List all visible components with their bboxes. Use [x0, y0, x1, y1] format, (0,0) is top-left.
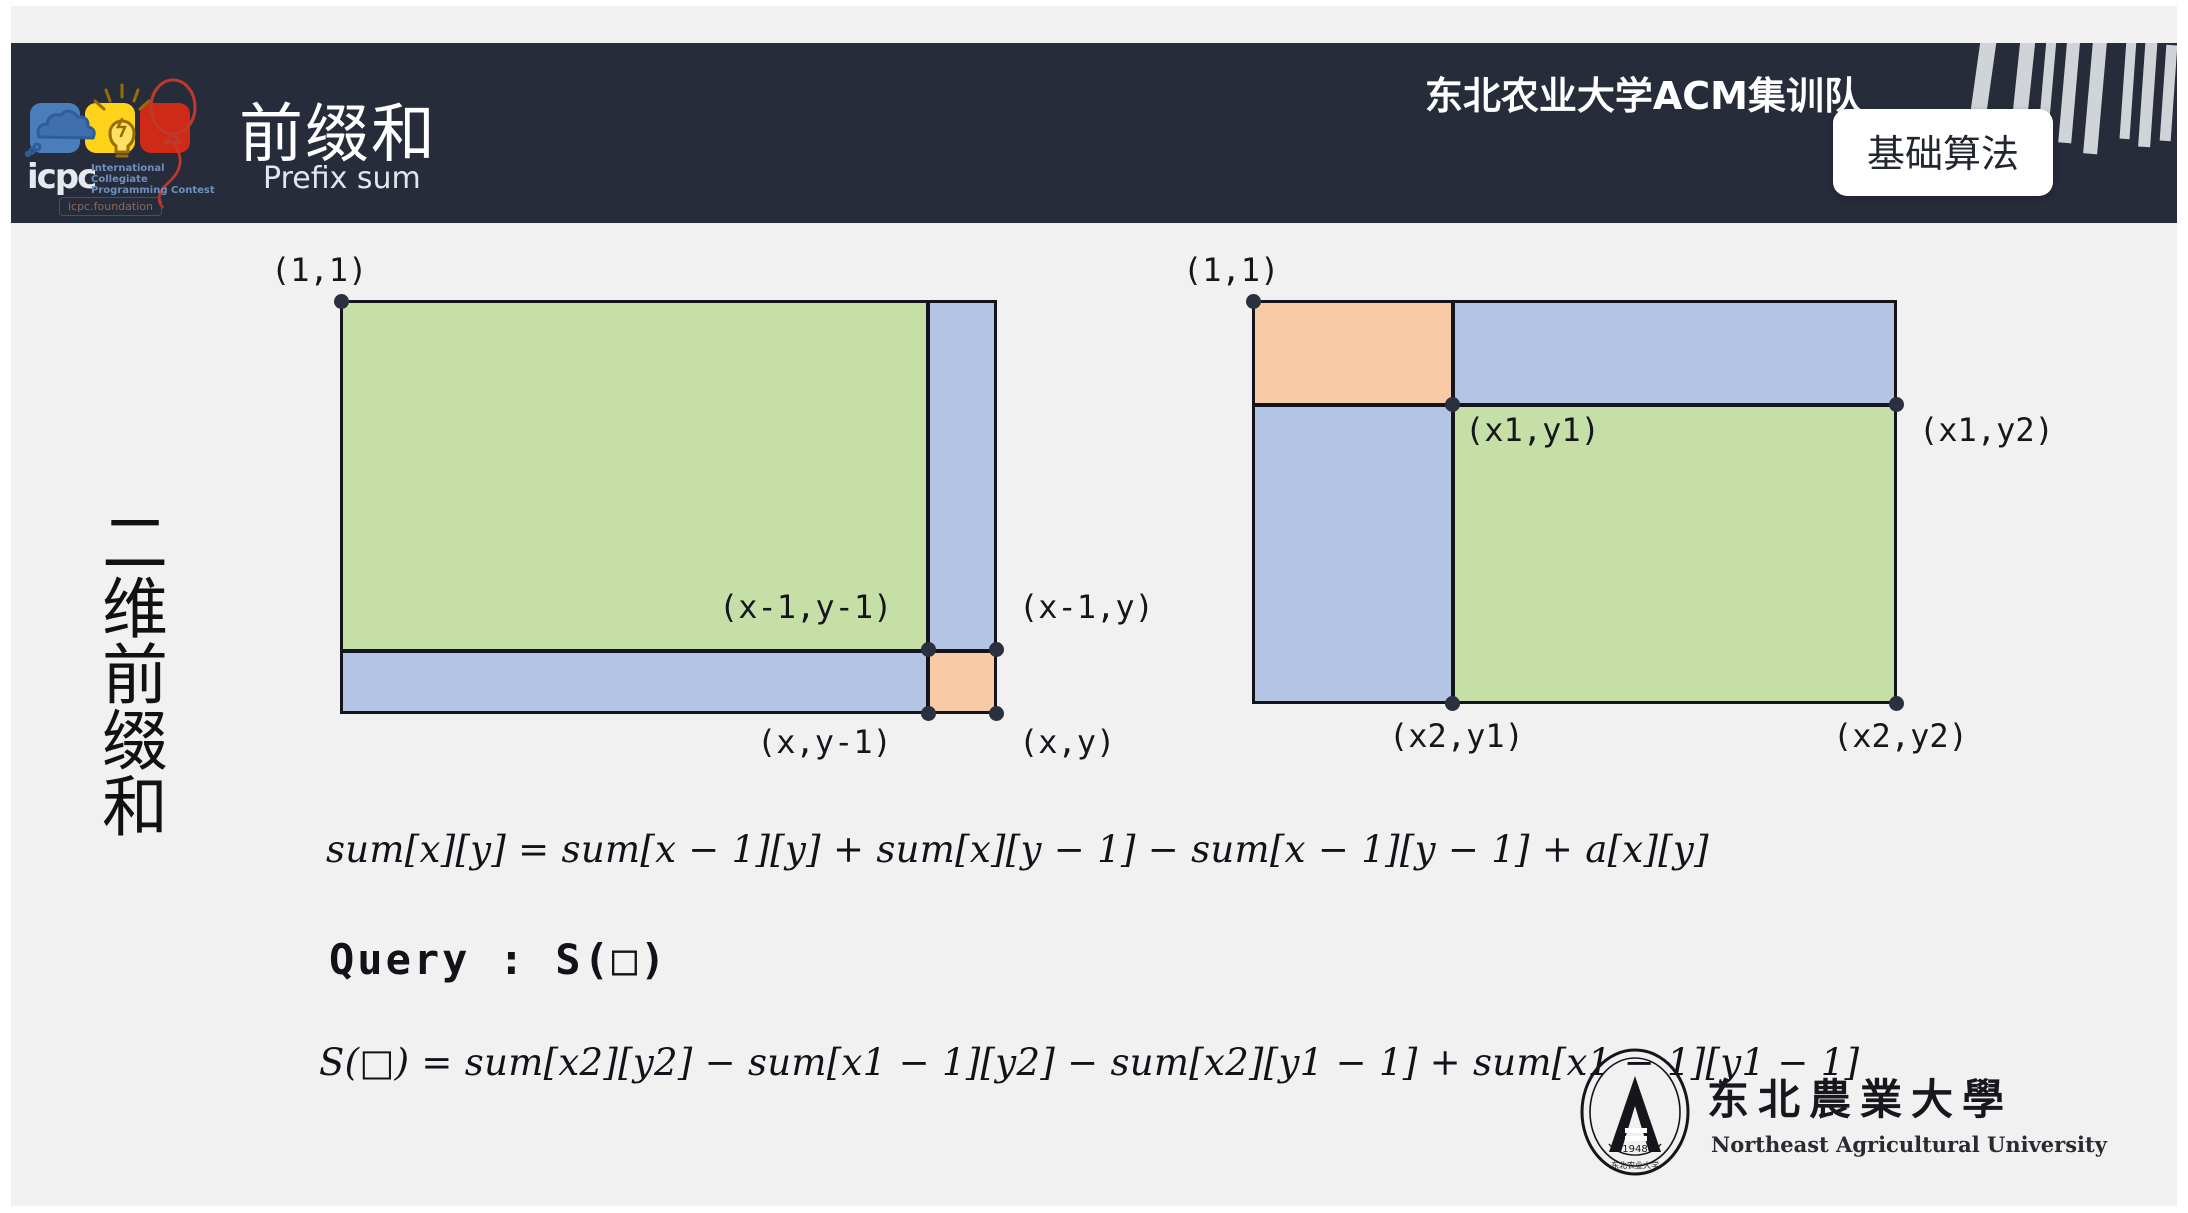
decorative-bar [2138, 43, 2158, 147]
vertex-dot-x2y2 [1889, 696, 1904, 711]
horizontal-divider [1253, 403, 1896, 407]
university-logo: 1948 东北农业大学 东北農業大學 Northeast Agricultura… [1579, 1048, 2149, 1178]
university-seal: 1948 东北农业大学 [1579, 1048, 1691, 1176]
decorative-bar [2083, 43, 2109, 154]
vertical-divider [1451, 301, 1455, 703]
seal-year: 1948 [1622, 1144, 1647, 1155]
vertex-dot-origin [1246, 294, 1261, 309]
blue-bottom-row [341, 651, 928, 713]
page-subtitle: Prefix sum [263, 161, 421, 196]
blue-left-region [1253, 405, 1453, 703]
slide-header: icpc International Collegiate Programmin… [11, 43, 2177, 223]
icpc-logo: icpc International Collegiate Programmin… [23, 59, 213, 209]
university-name-en: Northeast Agricultural University [1711, 1132, 2107, 1157]
icpc-subtitle-line2: Programming Contest [91, 185, 215, 196]
query-label: Query : S(□) [329, 935, 668, 984]
label-right-col: (x-1,y) [1019, 588, 1154, 626]
green-query-region [1453, 405, 1896, 703]
range-query-diagram: (1,1) (x1,y1) (x1,y2) (x2,y1) (x2,y2) [1241, 283, 2001, 803]
label-x2y1: (x2,y1) [1389, 717, 1524, 755]
decorative-bar [2160, 45, 2177, 142]
vertex-dot-x1y1 [1445, 397, 1460, 412]
blue-top-region [1453, 301, 1896, 405]
vertex-dot-xy1 [921, 706, 936, 721]
topic-badge: 基础算法 [1833, 109, 2053, 196]
label-corner: (x,y) [1019, 723, 1115, 761]
vertex-dot-origin [334, 294, 349, 309]
university-name-cn: 东北農業大學 [1707, 1066, 2013, 1127]
vertex-dot-x2y1 [1445, 696, 1460, 711]
vertex-dot-x1y1 [921, 642, 936, 657]
label-x1y1: (x1,y1) [1465, 411, 1600, 449]
blue-right-column [928, 301, 996, 651]
section-vertical-caption: 二维前缀和 [86, 508, 166, 838]
decorative-bar [2058, 43, 2081, 143]
vertex-dot-xy [989, 706, 1004, 721]
slide-canvas: icpc International Collegiate Programmin… [11, 6, 2177, 1206]
orange-region [1253, 301, 1453, 405]
label-x1y2: (x1,y2) [1919, 411, 2054, 449]
organization-name: 东北农业大学ACM集训队 [1425, 65, 1862, 120]
slide-body: 二维前缀和 (1,1) [11, 223, 2177, 1206]
icpc-subtitle-line1: International Collegiate [91, 163, 165, 185]
icpc-wordmark: icpc [27, 157, 95, 197]
label-origin: (1,1) [1183, 251, 1279, 289]
formula-recurrence: sum[x][y] = sum[x − 1][y] + sum[x][y − 1… [326, 828, 1709, 871]
icpc-subtitle: International Collegiate Programming Con… [91, 163, 221, 196]
slide-root: icpc International Collegiate Programmin… [0, 0, 2188, 1213]
vertex-dot-x1y2 [1889, 397, 1904, 412]
label-origin: (1,1) [271, 251, 367, 289]
decorative-bar [2120, 43, 2137, 139]
prefix-sum-recurrence-diagram: (1,1) (x-1,y-1) (x-1,y) (x,y-1) (x,y) [329, 283, 1029, 803]
horizontal-divider [341, 649, 996, 653]
vertex-dot-x1y [989, 642, 1004, 657]
svg-text:东北农业大学: 东北农业大学 [1611, 1160, 1659, 1170]
label-x2y2: (x2,y2) [1833, 717, 1968, 755]
icpc-foundation-badge: icpc.foundation [59, 197, 162, 216]
orange-cell [928, 651, 996, 713]
label-bottom-row: (x,y-1) [757, 723, 892, 761]
label-green-inner: (x-1,y-1) [719, 588, 892, 626]
